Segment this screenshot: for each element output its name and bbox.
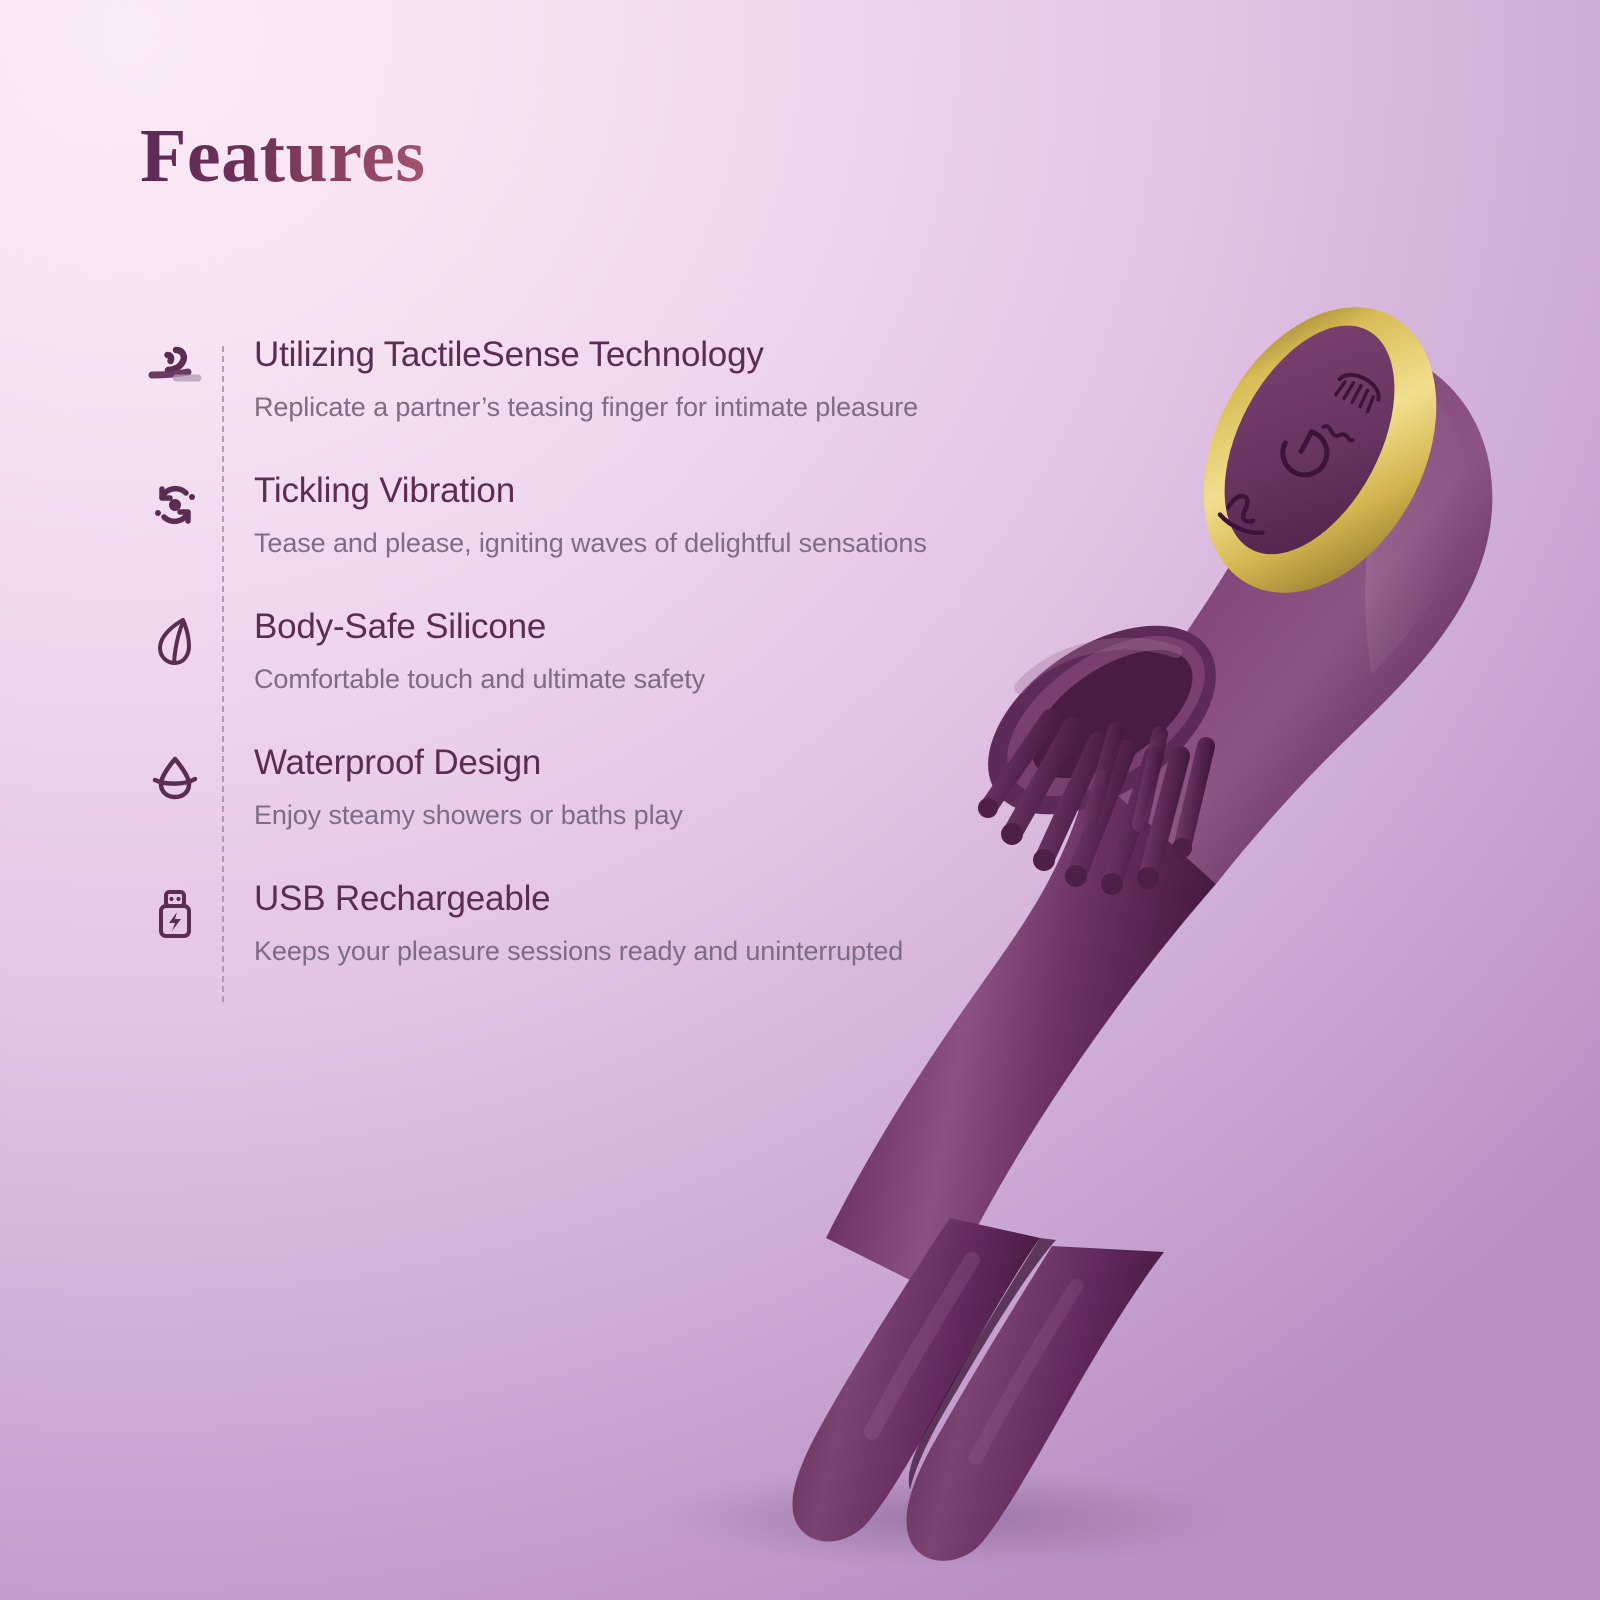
infographic-canvas: Features Utilizing TactileSense Technolo…: [0, 0, 1600, 1600]
vibration-rotate-icon: [128, 472, 222, 530]
feature-description: Enjoy steamy showers or baths play: [254, 800, 683, 831]
feature-description: Tease and please, igniting waves of deli…: [254, 528, 927, 559]
product-shadow: [650, 1466, 1250, 1570]
feature-item-tactilesense: Utilizing TactileSense Technology Replic…: [128, 336, 1028, 472]
feature-item-waterproof-design: Waterproof Design Enjoy steamy showers o…: [128, 744, 1028, 880]
feature-title: Body-Safe Silicone: [254, 608, 705, 647]
feature-description: Keeps your pleasure sessions ready and u…: [254, 936, 903, 967]
wave-mode-button: [1218, 490, 1273, 539]
feature-title: Waterproof Design: [254, 744, 683, 783]
feature-title: Tickling Vibration: [254, 472, 927, 511]
power-vibration-button: [1275, 412, 1353, 489]
touch-finger-icon: [128, 336, 222, 390]
tickle-mode-button: [1332, 368, 1384, 413]
page-title: Features: [140, 118, 425, 194]
feature-item-tickling-vibration: Tickling Vibration Tease and please, ign…: [128, 472, 1028, 608]
feature-description: Replicate a partner’s teasing finger for…: [254, 392, 918, 423]
feature-title: Utilizing TactileSense Technology: [254, 336, 918, 375]
feature-item-body-safe-silicone: Body-Safe Silicone Comfortable touch and…: [128, 608, 1028, 744]
feature-list: Utilizing TactileSense Technology Replic…: [128, 336, 1028, 1016]
leaf-icon: [128, 608, 222, 668]
feature-title: USB Rechargeable: [254, 880, 903, 919]
usb-charge-icon: [128, 880, 222, 940]
feature-item-usb-rechargeable: USB Rechargeable Keeps your pleasure ses…: [128, 880, 1028, 1016]
waterproof-droplet-icon: [128, 744, 222, 802]
control-button-cluster: [1157, 300, 1483, 633]
forked-tips: [792, 1218, 1164, 1561]
feature-description: Comfortable touch and ultimate safety: [254, 664, 705, 695]
